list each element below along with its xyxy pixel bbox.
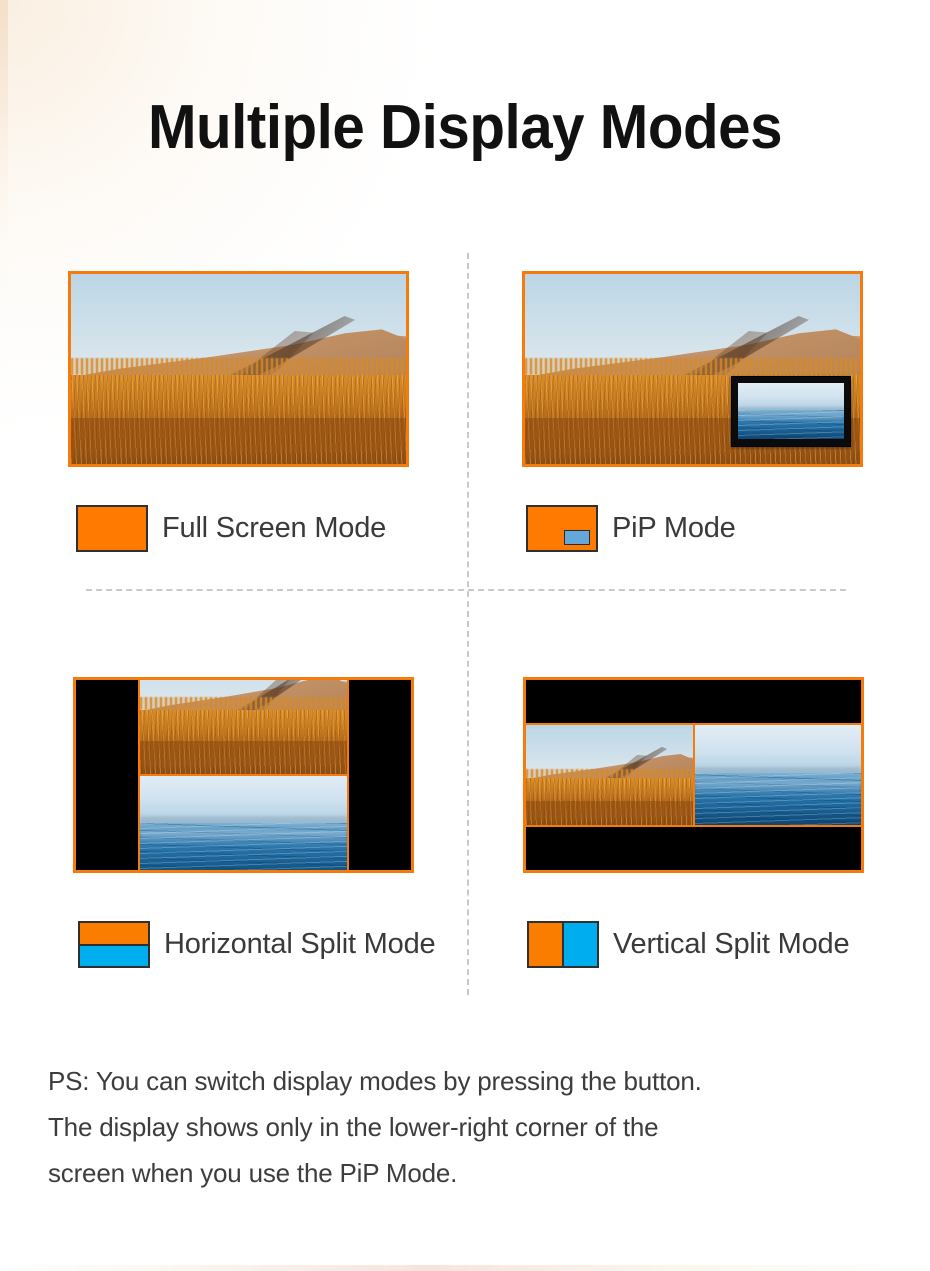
footnote: PS: You can switch display modes by pres… <box>48 1058 888 1196</box>
split-pane-desert <box>140 680 347 774</box>
grass-shadow-band <box>526 801 693 817</box>
vertical-split-swatch-icon <box>527 921 599 968</box>
legend-label-pip: PiP Mode <box>612 512 736 545</box>
ocean-water-sheen <box>695 781 862 795</box>
pillarbox-bar-left <box>76 680 138 870</box>
split-pane-ocean <box>693 725 862 826</box>
divider-horizontal <box>86 589 846 591</box>
legend-label-horizontal-split: Horizontal Split Mode <box>164 928 435 961</box>
vertical-split-row <box>526 723 861 828</box>
preview-full-screen[interactable] <box>68 271 409 467</box>
footnote-line-3: screen when you use the PiP Mode. <box>48 1150 888 1196</box>
footnote-line-2: The display shows only in the lower-righ… <box>48 1104 888 1150</box>
letterbox-bar-bottom <box>526 827 861 870</box>
legend-label-full-screen: Full Screen Mode <box>162 512 386 545</box>
ocean-water <box>140 823 347 870</box>
pip-swatch-inset-icon <box>564 530 590 545</box>
divider-vertical <box>467 253 469 995</box>
ocean-scene-image <box>695 725 862 826</box>
split-pane-desert <box>526 725 693 826</box>
swatch-half-orange <box>80 923 148 944</box>
ocean-water-sheen <box>738 414 844 422</box>
pip-inset-screen <box>738 383 844 439</box>
background-left-edge <box>0 0 8 300</box>
ocean-scene-image <box>738 383 844 439</box>
preview-pip[interactable] <box>522 271 863 467</box>
legend-vertical-split[interactable]: Vertical Split Mode <box>527 921 849 968</box>
screen-frame-pip <box>522 271 863 467</box>
legend-label-vertical-split: Vertical Split Mode <box>613 928 849 961</box>
preview-horizontal-split[interactable] <box>73 677 414 873</box>
desert-scene-image <box>71 274 406 464</box>
screen-frame-vertical-split <box>523 677 864 873</box>
grass-shadow-band <box>71 418 406 448</box>
ocean-scene-image <box>140 774 347 870</box>
swatch-half-blue <box>80 944 148 967</box>
legend-horizontal-split[interactable]: Horizontal Split Mode <box>78 921 435 968</box>
display-modes-page: Multiple Display Modes <box>0 0 930 1271</box>
page-title: Multiple Display Modes <box>28 92 902 163</box>
legend-pip[interactable]: PiP Mode <box>526 505 736 552</box>
grass-tips <box>525 358 860 375</box>
horizontal-split-swatch-icon <box>78 921 150 968</box>
screen-frame-horizontal-split <box>73 677 414 873</box>
grass-shadow-band <box>140 741 347 763</box>
grass-tips <box>71 358 406 375</box>
horizontal-split-column <box>138 680 349 870</box>
footnote-line-1: PS: You can switch display modes by pres… <box>48 1058 888 1104</box>
desert-scene-image <box>140 680 347 774</box>
pip-inset-window[interactable] <box>731 376 851 447</box>
split-pane-ocean <box>140 774 347 870</box>
background-bottom-edge <box>0 1265 930 1271</box>
letterbox-bar-top <box>526 680 861 723</box>
grass-tips <box>526 769 693 778</box>
preview-vertical-split[interactable] <box>523 677 864 873</box>
legend-full-screen[interactable]: Full Screen Mode <box>76 505 386 552</box>
swatch-half-blue <box>562 923 597 966</box>
grass-tips <box>140 697 347 709</box>
screen-frame-full-screen <box>68 271 409 467</box>
pillarbox-bar-right <box>349 680 411 870</box>
desert-scene-image <box>526 725 693 826</box>
pip-swatch-icon <box>526 505 598 552</box>
full-screen-swatch-icon <box>76 505 148 552</box>
ocean-water-sheen <box>140 831 347 846</box>
swatch-half-orange <box>529 923 562 966</box>
